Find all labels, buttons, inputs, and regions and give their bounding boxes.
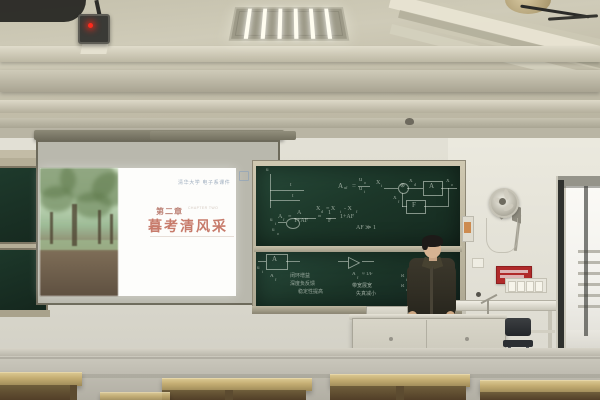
slide-photo	[40, 168, 118, 296]
door-header	[558, 176, 600, 188]
classroom-photo: 清华大学 电子系课件 第二章 CHAPTER TWO 暮考清风采 u t t A…	[0, 0, 600, 400]
ceiling-beam	[0, 100, 600, 113]
left-chalk-tray	[0, 310, 50, 317]
ceiling-beam	[0, 70, 600, 92]
ceiling-light-fixture	[229, 7, 350, 41]
chalkboard-upper-panel: u t t A uf = u o u i X i ⊗ X d A X o F X…	[256, 166, 460, 246]
light-switch-panel[interactable]	[505, 278, 547, 293]
student-desk-front	[480, 392, 600, 400]
slide-title-text: 暮考清风采	[148, 216, 228, 236]
desk-leg	[225, 390, 233, 400]
fan-hub	[499, 198, 506, 205]
chair-backrest[interactable]	[505, 318, 531, 336]
projector-power-led	[88, 23, 93, 28]
door-jamb	[584, 186, 588, 336]
slide-header: 清华大学 电子系课件	[178, 171, 240, 180]
stair-railing	[578, 250, 600, 320]
slide-divider	[150, 236, 234, 237]
ceiling-projector-icon	[78, 14, 110, 44]
screen-valance	[150, 131, 296, 140]
chair-seat	[503, 340, 533, 347]
lecturer-hair	[422, 240, 428, 250]
desk-leg	[396, 386, 404, 400]
slide-header-text: 清华大学 电子系课件	[178, 180, 230, 186]
side-counter	[455, 300, 565, 311]
slide-logo-icon	[239, 171, 249, 181]
wall-notice	[464, 222, 471, 233]
student-desk	[100, 392, 170, 400]
slide-chapter-sub: CHAPTER TWO	[188, 206, 218, 210]
microphone-icon	[476, 292, 481, 297]
student-desk-front	[0, 385, 76, 400]
power-outlet[interactable]	[472, 258, 484, 268]
student-desk-front	[162, 390, 306, 400]
door-jamb	[558, 180, 564, 364]
desk-leg	[70, 385, 77, 400]
student-desk	[0, 372, 82, 386]
floor-seam	[0, 357, 600, 359]
ceiling-shadow	[0, 0, 86, 22]
ceiling-sensor-icon	[405, 118, 414, 125]
fan-pull-cord[interactable]	[486, 218, 518, 253]
